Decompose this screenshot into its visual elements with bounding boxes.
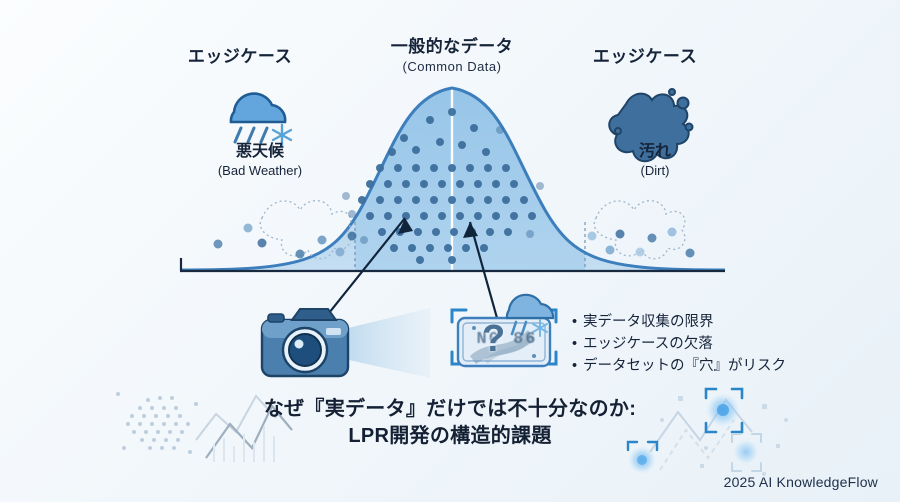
page-title-line2: LPR開発の構造的課題: [0, 423, 900, 450]
plate-number-text: N0 86: [461, 330, 553, 349]
bad-weather-jp: 悪天候: [180, 142, 340, 162]
risk-bullet-list: •実データ収集の限界 •エッジケースの欠落 •データセットの『穴』がリスク: [572, 312, 786, 378]
bullet-marker: •: [572, 356, 583, 377]
infographic-canvas: エッジケース 一般的なデータ (Common Data) エッジケース 悪天候 …: [0, 0, 900, 502]
camera-icon: [262, 308, 430, 378]
common-data-jp: 一般的なデータ: [352, 36, 552, 58]
rain-snow-cloud-icon: [231, 94, 291, 145]
common-data-en: (Common Data): [352, 58, 552, 75]
dirt-en: (Dirt): [575, 162, 735, 179]
edge-case-right-text: エッジケース: [545, 46, 745, 68]
bullet-marker: •: [572, 312, 583, 333]
bullet-text: データセットの『穴』がリスク: [583, 358, 786, 374]
label-dirt: 汚れ (Dirt): [575, 142, 735, 179]
bullet-text: エッジケースの欠落: [583, 336, 713, 352]
list-item: •データセットの『穴』がリスク: [572, 356, 786, 377]
list-item: •エッジケースの欠落: [572, 334, 786, 355]
label-bad-weather: 悪天候 (Bad Weather): [180, 142, 340, 179]
footer-attribution: 2025 AI KnowledgeFlow: [724, 474, 878, 490]
dirt-jp: 汚れ: [575, 142, 735, 162]
page-title: なぜ『実データ』だけでは不十分なのか: LPR開発の構造的課題: [0, 396, 900, 450]
edge-case-left-text: エッジケース: [140, 46, 340, 68]
page-title-line1: なぜ『実データ』だけでは不十分なのか:: [0, 396, 900, 423]
bad-weather-en: (Bad Weather): [180, 162, 340, 179]
label-edge-case-right: エッジケース: [545, 46, 745, 68]
plate-question-mark: ?: [482, 318, 505, 361]
list-item: •実データ収集の限界: [572, 312, 786, 333]
bullet-text: 実データ収集の限界: [583, 314, 714, 330]
bullet-marker: •: [572, 334, 583, 355]
label-edge-case-left: エッジケース: [140, 46, 340, 68]
label-common-data: 一般的なデータ (Common Data): [352, 36, 552, 75]
